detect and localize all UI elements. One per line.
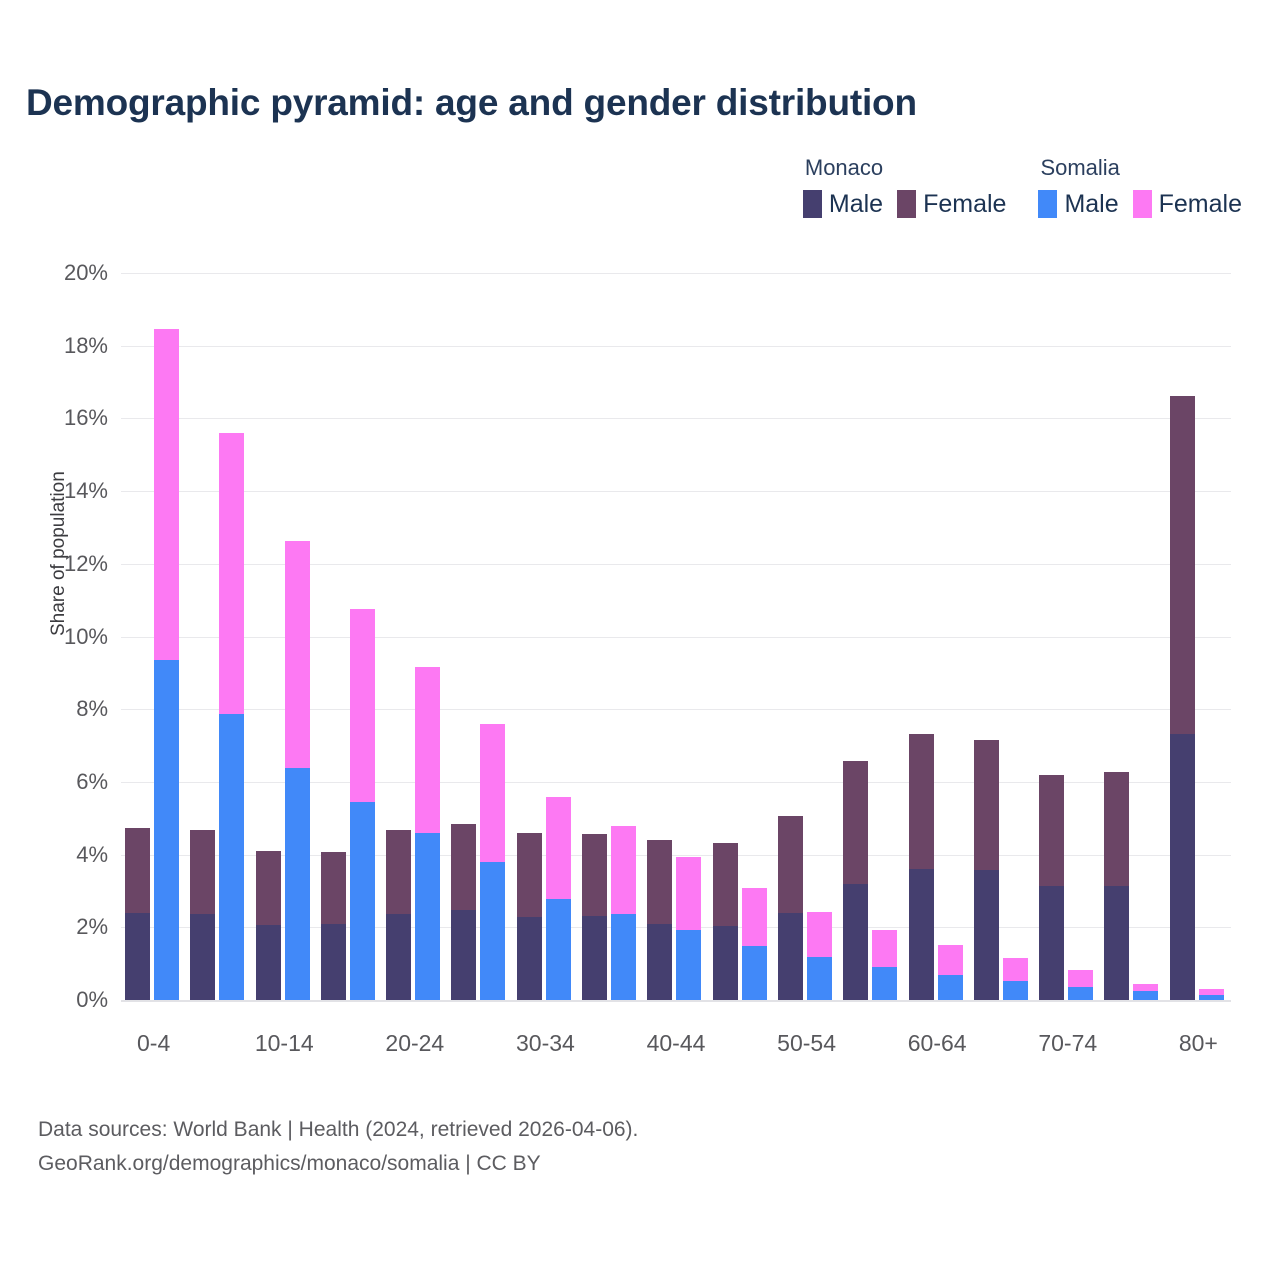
y-axis-tick-label: 6%	[76, 769, 108, 795]
legend-item-somalia-male[interactable]: Male	[1038, 190, 1118, 218]
bar-segment-somalia-female	[611, 826, 636, 914]
bar-segment-monaco-female	[256, 851, 281, 925]
bar-segment-somalia-male	[219, 714, 244, 1000]
bar-segment-somalia-male	[676, 930, 701, 1000]
bar-somalia-55-59[interactable]	[872, 930, 897, 1000]
bar-monaco-35-39[interactable]	[582, 834, 607, 1000]
bar-somalia-65-69[interactable]	[1003, 958, 1028, 1000]
bar-monaco-0-4[interactable]	[125, 828, 150, 1000]
bar-segment-monaco-male	[517, 917, 542, 1000]
bar-segment-somalia-female	[154, 329, 179, 660]
x-axis-tick-label: 10-14	[255, 1030, 314, 1057]
bar-segment-monaco-male	[974, 870, 999, 1000]
bar-somalia-15-19[interactable]	[350, 609, 375, 1000]
bar-group-5-9	[186, 273, 251, 1000]
bar-monaco-30-34[interactable]	[517, 833, 542, 1000]
bar-monaco-45-49[interactable]	[713, 843, 738, 1000]
x-axis-tick-label: 40-44	[647, 1030, 706, 1057]
bar-monaco-5-9[interactable]	[190, 830, 215, 1000]
x-axis-tick-label: 60-64	[908, 1030, 967, 1057]
bar-segment-somalia-male	[872, 967, 897, 1000]
x-axis-tick-label: 70-74	[1038, 1030, 1097, 1057]
bar-monaco-70-74[interactable]	[1039, 775, 1064, 1000]
bar-segment-somalia-female	[350, 609, 375, 802]
bar-segment-somalia-female	[938, 945, 963, 974]
y-axis-tick-label: 2%	[76, 914, 108, 940]
bar-group-65-69	[970, 273, 1035, 1000]
bar-segment-somalia-male	[611, 914, 636, 1001]
bar-segment-monaco-male	[256, 925, 281, 1000]
bar-segment-somalia-female	[676, 857, 701, 930]
bar-segment-somalia-female	[742, 888, 767, 947]
bar-group-80+	[1166, 273, 1231, 1000]
bar-group-55-59	[839, 273, 904, 1000]
y-axis-tick-label: 0%	[76, 987, 108, 1013]
legend-swatch-icon	[1133, 190, 1152, 218]
bar-group-25-29	[447, 273, 512, 1000]
bar-monaco-75-79[interactable]	[1104, 772, 1129, 1000]
legend-swatch-icon	[897, 190, 916, 218]
bar-segment-monaco-male	[647, 924, 672, 1000]
y-axis-tick-label: 8%	[76, 696, 108, 722]
bar-segment-monaco-female	[974, 740, 999, 870]
bar-segment-monaco-male	[125, 913, 150, 1000]
legend-item-monaco-female[interactable]: Female	[897, 190, 1006, 218]
bar-somalia-0-4[interactable]	[154, 329, 179, 1000]
legend-item-monaco-male[interactable]: Male	[803, 190, 883, 218]
legend-label: Female	[1159, 192, 1242, 217]
legend-swatch-icon	[803, 190, 822, 218]
bar-segment-somalia-male	[1068, 987, 1093, 1000]
chart-legend: MonacoMaleFemaleSomaliaMaleFemale	[803, 155, 1242, 218]
bars-layer	[121, 273, 1231, 1000]
bar-segment-somalia-male	[938, 975, 963, 1000]
bar-somalia-20-24[interactable]	[415, 667, 440, 1000]
bar-segment-monaco-male	[1170, 734, 1195, 1000]
bar-somalia-40-44[interactable]	[676, 857, 701, 1000]
bar-monaco-15-19[interactable]	[321, 852, 346, 1000]
footer-line-2: GeoRank.org/demographics/monaco/somalia …	[38, 1147, 638, 1181]
bar-segment-monaco-male	[713, 926, 738, 1000]
y-axis-tick-label: 14%	[64, 478, 108, 504]
bar-segment-monaco-female	[778, 816, 803, 913]
bar-somalia-35-39[interactable]	[611, 826, 636, 1000]
bar-monaco-80+[interactable]	[1170, 396, 1195, 1000]
bar-monaco-50-54[interactable]	[778, 816, 803, 1000]
bar-monaco-10-14[interactable]	[256, 851, 281, 1000]
bar-somalia-50-54[interactable]	[807, 912, 832, 1000]
bar-monaco-40-44[interactable]	[647, 840, 672, 1000]
bar-segment-monaco-female	[517, 833, 542, 917]
bar-somalia-70-74[interactable]	[1068, 970, 1093, 1000]
bar-segment-somalia-male	[1003, 981, 1028, 1000]
chart-container: Demographic pyramid: age and gender dist…	[0, 0, 1280, 1280]
bar-segment-monaco-female	[190, 830, 215, 914]
bar-somalia-80+[interactable]	[1199, 989, 1224, 1000]
bar-segment-somalia-female	[546, 797, 571, 899]
legend-groups: MonacoMaleFemaleSomaliaMaleFemale	[803, 155, 1242, 218]
bar-segment-monaco-female	[321, 852, 346, 924]
y-axis-tick-label: 4%	[76, 842, 108, 868]
bar-segment-monaco-male	[386, 914, 411, 1000]
bar-group-35-39	[578, 273, 643, 1000]
bar-somalia-5-9[interactable]	[219, 433, 244, 1000]
y-axis-tick-label: 12%	[64, 551, 108, 577]
chart-title: Demographic pyramid: age and gender dist…	[26, 82, 917, 124]
bar-segment-somalia-male	[154, 660, 179, 1000]
y-axis-tick-label: 10%	[64, 624, 108, 650]
plot-area	[121, 273, 1231, 1000]
bar-segment-somalia-male	[285, 768, 310, 1000]
gridline	[121, 1000, 1231, 1002]
legend-label: Female	[923, 192, 1006, 217]
bar-somalia-45-49[interactable]	[742, 888, 767, 1000]
bar-segment-monaco-female	[647, 840, 672, 924]
bar-monaco-60-64[interactable]	[909, 734, 934, 1000]
bar-segment-monaco-female	[909, 734, 934, 868]
bar-segment-somalia-male	[415, 833, 440, 1000]
y-axis-tick-label: 18%	[64, 333, 108, 359]
bar-segment-somalia-female	[1068, 970, 1093, 986]
bar-group-10-14	[252, 273, 317, 1000]
bar-segment-somalia-female	[480, 724, 505, 861]
bar-group-30-34	[513, 273, 578, 1000]
bar-segment-monaco-male	[321, 924, 346, 1000]
bar-group-20-24	[382, 273, 447, 1000]
bar-monaco-25-29[interactable]	[451, 824, 476, 1000]
footer-line-1: Data sources: World Bank | Health (2024,…	[38, 1113, 638, 1147]
bar-group-0-4	[121, 273, 186, 1000]
bar-segment-monaco-female	[843, 761, 868, 883]
x-axis-tick-label: 30-34	[516, 1030, 575, 1057]
bar-segment-somalia-male	[546, 899, 571, 1000]
bar-segment-somalia-male	[1199, 995, 1224, 1000]
x-axis-tick-label: 20-24	[385, 1030, 444, 1057]
bar-somalia-10-14[interactable]	[285, 541, 310, 1000]
bar-segment-somalia-male	[480, 862, 505, 1000]
legend-label: Male	[829, 192, 883, 217]
bar-segment-somalia-male	[807, 957, 832, 1000]
chart-footer: Data sources: World Bank | Health (2024,…	[38, 1113, 638, 1181]
x-axis-tick-label: 0-4	[137, 1030, 170, 1057]
bar-segment-monaco-male	[1039, 886, 1064, 1000]
y-axis-tick-label: 20%	[64, 260, 108, 286]
bar-somalia-75-79[interactable]	[1133, 984, 1158, 1000]
bar-segment-monaco-male	[843, 884, 868, 1000]
bar-segment-monaco-female	[582, 834, 607, 916]
bar-group-70-74	[1035, 273, 1100, 1000]
legend-group-somalia: SomaliaMaleFemale	[1038, 155, 1242, 218]
bar-segment-somalia-female	[807, 912, 832, 958]
y-axis-tick-label: 16%	[64, 405, 108, 431]
bar-monaco-20-24[interactable]	[386, 830, 411, 1000]
bar-segment-somalia-female	[1003, 958, 1028, 981]
bar-segment-somalia-male	[350, 802, 375, 1000]
bar-segment-somalia-male	[1133, 991, 1158, 1000]
bar-somalia-60-64[interactable]	[938, 945, 963, 1000]
legend-label: Male	[1064, 192, 1118, 217]
bar-segment-somalia-male	[742, 946, 767, 1000]
bar-monaco-55-59[interactable]	[843, 761, 868, 1000]
bar-segment-monaco-female	[1104, 772, 1129, 887]
bar-segment-somalia-female	[872, 930, 897, 967]
legend-group-monaco: MonacoMaleFemale	[803, 155, 1007, 218]
bar-segment-monaco-male	[909, 869, 934, 1000]
bar-somalia-30-34[interactable]	[546, 797, 571, 1000]
x-axis-tick-label: 50-54	[777, 1030, 836, 1057]
legend-items: MaleFemale	[803, 190, 1007, 218]
bar-segment-monaco-female	[1170, 396, 1195, 734]
bar-group-15-19	[317, 273, 382, 1000]
x-axis-tick-label: 80+	[1179, 1030, 1218, 1057]
bar-group-45-49	[709, 273, 774, 1000]
bar-segment-somalia-female	[219, 433, 244, 714]
legend-items: MaleFemale	[1038, 190, 1242, 218]
bar-somalia-25-29[interactable]	[480, 724, 505, 1000]
legend-swatch-icon	[1038, 190, 1057, 218]
bar-segment-somalia-female	[285, 541, 310, 768]
bar-segment-monaco-female	[125, 828, 150, 913]
legend-group-title: Somalia	[1038, 155, 1119, 181]
legend-group-title: Monaco	[803, 155, 883, 181]
bar-segment-monaco-male	[1104, 886, 1129, 1000]
bar-group-75-79	[1100, 273, 1165, 1000]
bar-segment-monaco-female	[386, 830, 411, 914]
bar-monaco-65-69[interactable]	[974, 740, 999, 1000]
bar-group-60-64	[905, 273, 970, 1000]
bar-segment-monaco-male	[451, 910, 476, 1000]
bar-segment-monaco-male	[582, 916, 607, 1000]
bar-segment-monaco-female	[451, 824, 476, 911]
bar-segment-somalia-female	[415, 667, 440, 833]
bar-segment-monaco-female	[713, 843, 738, 927]
bar-segment-monaco-male	[190, 914, 215, 1001]
bar-segment-monaco-male	[778, 913, 803, 1000]
bar-group-40-44	[643, 273, 708, 1000]
bar-group-50-54	[774, 273, 839, 1000]
legend-item-somalia-female[interactable]: Female	[1133, 190, 1242, 218]
bar-segment-monaco-female	[1039, 775, 1064, 886]
